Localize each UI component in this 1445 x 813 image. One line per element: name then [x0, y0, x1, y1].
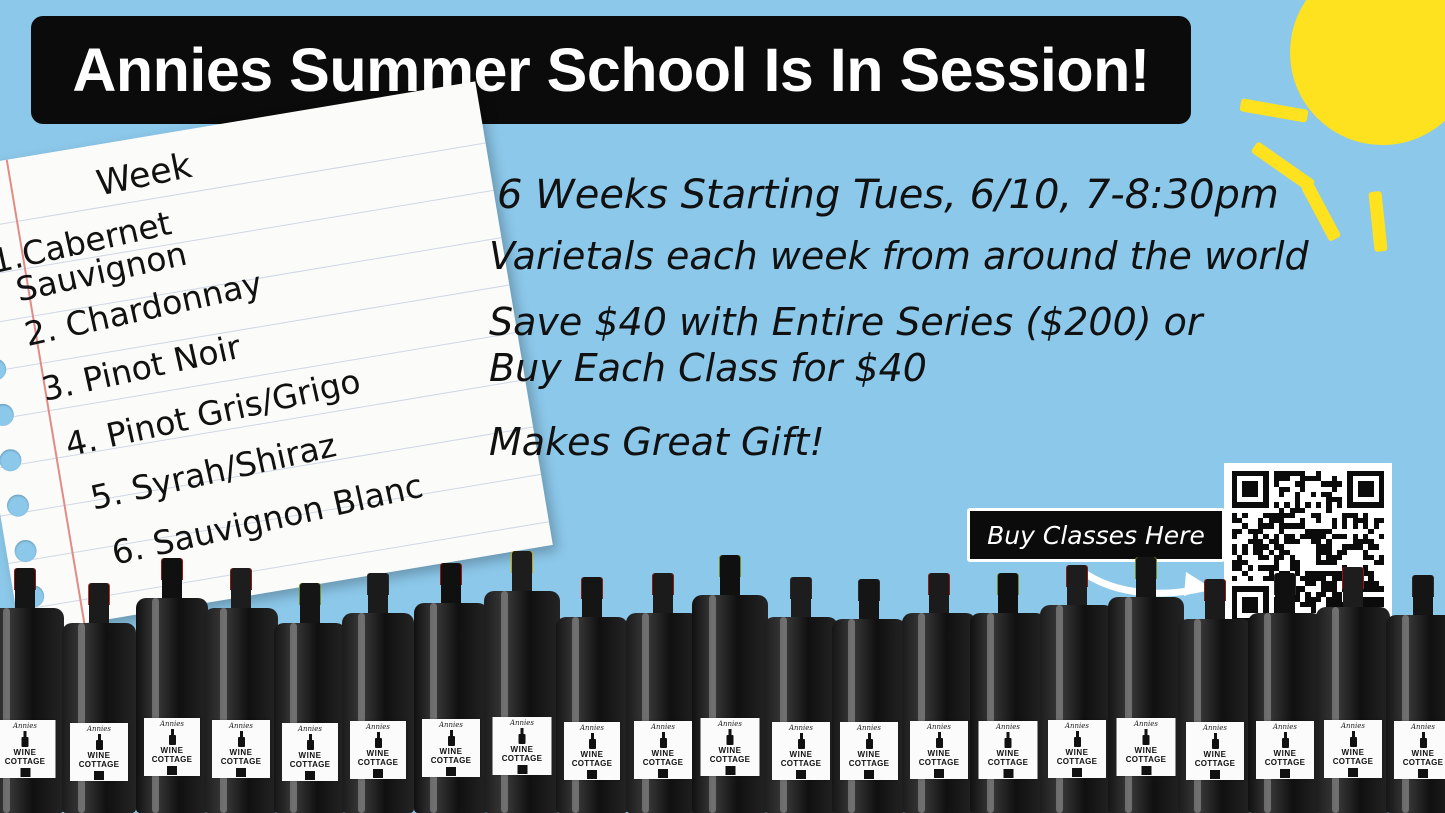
- bottle-label-wine: WINE: [652, 749, 675, 758]
- detail-line-class-price: Buy Each Class for $40: [489, 346, 1429, 390]
- bottle-label-mark: [1348, 768, 1358, 777]
- bottle-label-cottage: COTTAGE: [1333, 757, 1374, 766]
- bottle-label-mark: [1280, 769, 1290, 778]
- bottle-label: AnniesWINECOTTAGE: [979, 721, 1038, 779]
- bottle-label-cottage: COTTAGE: [1126, 755, 1167, 764]
- bottle-label-mark: [1141, 766, 1151, 775]
- bottle-label-wine: WINE: [161, 746, 184, 755]
- bottle-label-cottage: COTTAGE: [79, 760, 120, 769]
- bottle-glyph-icon: [1350, 731, 1357, 747]
- bottle-glyph-icon: [798, 733, 805, 749]
- bottle-label-mark: [446, 767, 456, 776]
- bottle-label-script: Annies: [1065, 722, 1089, 730]
- bottle-body: [62, 623, 136, 813]
- bottle-glyph-icon: [519, 728, 526, 744]
- buy-classes-button[interactable]: Buy Classes Here: [967, 508, 1225, 562]
- bottle-label-mark: [1072, 768, 1082, 777]
- bottle-label-cottage: COTTAGE: [290, 760, 331, 769]
- bottle-label-cottage: COTTAGE: [502, 754, 543, 763]
- bottle-label: AnniesWINECOTTAGE: [350, 721, 406, 779]
- bottle-glyph-icon: [936, 732, 943, 748]
- bottle-label-cottage: COTTAGE: [988, 758, 1029, 767]
- bottle-body: [342, 613, 414, 813]
- wine-bottle: AnniesWINECOTTAGE: [414, 563, 488, 813]
- bottle-label-wine: WINE: [230, 748, 253, 757]
- bottle-glyph-icon: [1420, 732, 1427, 748]
- bottle-label-wine: WINE: [1274, 749, 1297, 758]
- wine-bottle: AnniesWINECOTTAGE: [136, 558, 208, 813]
- bottle-label-mark: [796, 770, 806, 779]
- bottle-glyph-icon: [1074, 731, 1081, 747]
- wine-bottle: AnniesWINECOTTAGE: [342, 573, 414, 813]
- bottle-label: AnniesWINECOTTAGE: [70, 723, 128, 781]
- bottle-body: [414, 603, 488, 813]
- bottle-body: [556, 617, 628, 813]
- bottle-body: [136, 598, 208, 813]
- bottle-body: [1248, 613, 1322, 813]
- bottle-label-script: Annies: [1341, 722, 1365, 730]
- bottle-label-wine: WINE: [299, 751, 322, 760]
- wine-bottle: AnniesWINECOTTAGE: [484, 551, 560, 813]
- detail-line-series-price: Save $40 with Entire Series ($200) or: [489, 300, 1429, 344]
- wine-bottle: AnniesWINECOTTAGE: [902, 573, 976, 813]
- bottle-label: AnniesWINECOTTAGE: [564, 722, 620, 780]
- bottle-label: AnniesWINECOTTAGE: [1186, 722, 1244, 780]
- bottle-glyph-icon: [1282, 732, 1289, 748]
- buy-classes-label: Buy Classes Here: [987, 521, 1205, 550]
- bottle-body: [484, 591, 560, 813]
- wine-bottle: AnniesWINECOTTAGE: [970, 573, 1046, 813]
- bottle-label-mark: [658, 769, 668, 778]
- bottle-label: AnniesWINECOTTAGE: [144, 718, 200, 776]
- bottle-label-mark: [20, 768, 30, 777]
- bottle-label-cottage: COTTAGE: [710, 755, 751, 764]
- bottle-label: AnniesWINECOTTAGE: [634, 721, 692, 779]
- bottle-label: AnniesWINECOTTAGE: [493, 717, 552, 775]
- bottle-label-mark: [517, 765, 527, 774]
- bottle-label-mark: [725, 766, 735, 775]
- bottle-label-script: Annies: [298, 725, 322, 733]
- bottle-glyph-icon: [375, 732, 382, 748]
- bottle-label-wine: WINE: [1342, 748, 1365, 757]
- bottle-label-wine: WINE: [511, 745, 534, 754]
- bottle-label-cottage: COTTAGE: [1057, 757, 1098, 766]
- bottle-glyph-icon: [22, 731, 29, 747]
- bottle-label-cottage: COTTAGE: [5, 757, 46, 766]
- wine-bottle: AnniesWINECOTTAGE: [692, 555, 768, 813]
- bottle-body: [1316, 607, 1390, 813]
- bottle-label-script: Annies: [87, 725, 111, 733]
- bottle-label-wine: WINE: [367, 749, 390, 758]
- wine-bottle: AnniesWINECOTTAGE: [626, 573, 700, 813]
- bottle-label-script: Annies: [229, 722, 253, 730]
- bottle-label-script: Annies: [160, 720, 184, 728]
- bottle-label: AnniesWINECOTTAGE: [0, 720, 56, 778]
- bottle-label-script: Annies: [857, 724, 881, 732]
- wine-bottle: AnniesWINECOTTAGE: [1316, 567, 1390, 813]
- bottle-label-wine: WINE: [1204, 750, 1227, 759]
- bottle-label-wine: WINE: [14, 748, 37, 757]
- bottle-label-wine: WINE: [997, 749, 1020, 758]
- wine-bottle: AnniesWINECOTTAGE: [832, 579, 906, 813]
- bottle-label-script: Annies: [651, 723, 675, 731]
- bottle-glyph-icon: [589, 733, 596, 749]
- bottle-label-mark: [934, 769, 944, 778]
- wine-bottle: AnniesWINECOTTAGE: [1108, 557, 1184, 813]
- detail-line-varietals: Varietals each week from around the worl…: [489, 234, 1429, 278]
- bottle-glyph-icon: [238, 731, 245, 747]
- bottle-glyph-icon: [448, 730, 455, 746]
- page-title: Annies Summer School Is In Session!: [72, 35, 1149, 105]
- bottle-label-wine: WINE: [719, 746, 742, 755]
- bottle-body: [1108, 597, 1184, 813]
- wine-bottle: AnniesWINECOTTAGE: [274, 583, 346, 813]
- bottle-label-script: Annies: [996, 723, 1020, 731]
- bottle-glyph-icon: [727, 729, 734, 745]
- bottle-label-cottage: COTTAGE: [1403, 758, 1444, 767]
- bottle-label-cottage: COTTAGE: [849, 759, 890, 768]
- bottle-label-script: Annies: [789, 724, 813, 732]
- bottle-label: AnniesWINECOTTAGE: [840, 722, 898, 780]
- bottle-body: [1178, 619, 1252, 813]
- bottle-label: AnniesWINECOTTAGE: [422, 719, 480, 777]
- bottle-label-cottage: COTTAGE: [643, 758, 684, 767]
- bottle-label-cottage: COTTAGE: [152, 755, 193, 764]
- bottle-label: AnniesWINECOTTAGE: [1324, 720, 1382, 778]
- bottle-label-script: Annies: [718, 720, 742, 728]
- bottle-label-script: Annies: [1203, 724, 1227, 732]
- bottle-body: [764, 617, 838, 813]
- wine-bottle: AnniesWINECOTTAGE: [204, 568, 278, 813]
- bottle-label-script: Annies: [510, 719, 534, 727]
- bottle-label: AnniesWINECOTTAGE: [910, 721, 968, 779]
- wine-bottle: AnniesWINECOTTAGE: [62, 583, 136, 813]
- wine-bottle: AnniesWINECOTTAGE: [0, 568, 64, 813]
- bottle-label-mark: [1418, 769, 1428, 778]
- poster-title-bar: Annies Summer School Is In Session!: [31, 16, 1191, 124]
- bottle-label-script: Annies: [580, 724, 604, 732]
- bottle-glyph-icon: [1143, 729, 1150, 745]
- bottle-glyph-icon: [660, 732, 667, 748]
- detail-line-schedule: 6 Weeks Starting Tues, 6/10, 7-8:30pm: [497, 172, 1429, 218]
- bottle-label-script: Annies: [366, 723, 390, 731]
- bottle-body: [902, 613, 976, 813]
- bottle-label-cottage: COTTAGE: [781, 759, 822, 768]
- bottle-label: AnniesWINECOTTAGE: [772, 722, 830, 780]
- bottle-glyph-icon: [169, 729, 176, 745]
- bottle-label: AnniesWINECOTTAGE: [282, 723, 338, 781]
- bottle-label-mark: [1003, 769, 1013, 778]
- bottle-label-script: Annies: [1134, 720, 1158, 728]
- wine-bottle: AnniesWINECOTTAGE: [556, 577, 628, 813]
- bottle-label-mark: [305, 771, 315, 780]
- bottle-label-mark: [167, 766, 177, 775]
- bottle-label-mark: [236, 768, 246, 777]
- bottle-label-wine: WINE: [858, 750, 881, 759]
- bottle-label-cottage: COTTAGE: [919, 758, 960, 767]
- bottle-label-wine: WINE: [88, 751, 111, 760]
- bottle-label-wine: WINE: [1066, 748, 1089, 757]
- bottle-row: AnniesWINECOTTAGEAnniesWINECOTTAGEAnnies…: [0, 578, 1445, 813]
- bottle-label-wine: WINE: [581, 750, 604, 759]
- bottle-label-script: Annies: [13, 722, 37, 730]
- bottle-label-script: Annies: [1273, 723, 1297, 731]
- bottle-body: [1040, 605, 1114, 813]
- bottle-label-script: Annies: [439, 721, 463, 729]
- details-block: 6 Weeks Starting Tues, 6/10, 7-8:30pm Va…: [489, 172, 1429, 464]
- bottle-label-wine: WINE: [1412, 749, 1435, 758]
- bottle-label-wine: WINE: [1135, 746, 1158, 755]
- wine-bottle: AnniesWINECOTTAGE: [1248, 573, 1322, 813]
- bottle-glyph-icon: [307, 734, 314, 750]
- bottle-label: AnniesWINECOTTAGE: [1394, 721, 1445, 779]
- bottle-label-cottage: COTTAGE: [572, 759, 613, 768]
- bottle-label-cottage: COTTAGE: [1265, 758, 1306, 767]
- bottle-body: [626, 613, 700, 813]
- bottle-label-mark: [587, 770, 597, 779]
- bottle-label-script: Annies: [1411, 723, 1435, 731]
- bottle-label-script: Annies: [927, 723, 951, 731]
- bottle-glyph-icon: [866, 733, 873, 749]
- poster-canvas: Annies Summer School Is In Session! Week…: [0, 0, 1445, 813]
- detail-line-gift: Makes Great Gift!: [489, 420, 1429, 464]
- bottle-label-wine: WINE: [790, 750, 813, 759]
- bottle-body: [274, 623, 346, 813]
- bottle-label-wine: WINE: [928, 749, 951, 758]
- bottle-glyph-icon: [96, 734, 103, 750]
- wine-bottle: AnniesWINECOTTAGE: [1040, 565, 1114, 813]
- wine-bottle: AnniesWINECOTTAGE: [764, 577, 838, 813]
- wine-bottle: AnniesWINECOTTAGE: [1386, 575, 1445, 813]
- notepad-header: Week: [93, 146, 195, 204]
- bottle-label: AnniesWINECOTTAGE: [212, 720, 270, 778]
- bottle-label: AnniesWINECOTTAGE: [701, 718, 760, 776]
- bottle-body: [832, 619, 906, 813]
- bottle-label: AnniesWINECOTTAGE: [1048, 720, 1106, 778]
- bottle-label-mark: [373, 769, 383, 778]
- bottle-glyph-icon: [1212, 733, 1219, 749]
- bottle-label-mark: [864, 770, 874, 779]
- bottle-label-cottage: COTTAGE: [1195, 759, 1236, 768]
- bottle-label-mark: [1210, 770, 1220, 779]
- bottle-body: [0, 608, 64, 813]
- bottle-label-mark: [94, 771, 104, 780]
- bottle-glyph-icon: [1005, 732, 1012, 748]
- bottle-label: AnniesWINECOTTAGE: [1117, 718, 1176, 776]
- bottle-body: [692, 595, 768, 813]
- bottle-label-cottage: COTTAGE: [358, 758, 399, 767]
- bottle-label-cottage: COTTAGE: [221, 757, 262, 766]
- bottle-label-wine: WINE: [440, 747, 463, 756]
- bottle-body: [1386, 615, 1445, 813]
- wine-bottle: AnniesWINECOTTAGE: [1178, 579, 1252, 813]
- bottle-body: [970, 613, 1046, 813]
- bottle-body: [204, 608, 278, 813]
- bottle-label-cottage: COTTAGE: [431, 756, 472, 765]
- bottle-label: AnniesWINECOTTAGE: [1256, 721, 1314, 779]
